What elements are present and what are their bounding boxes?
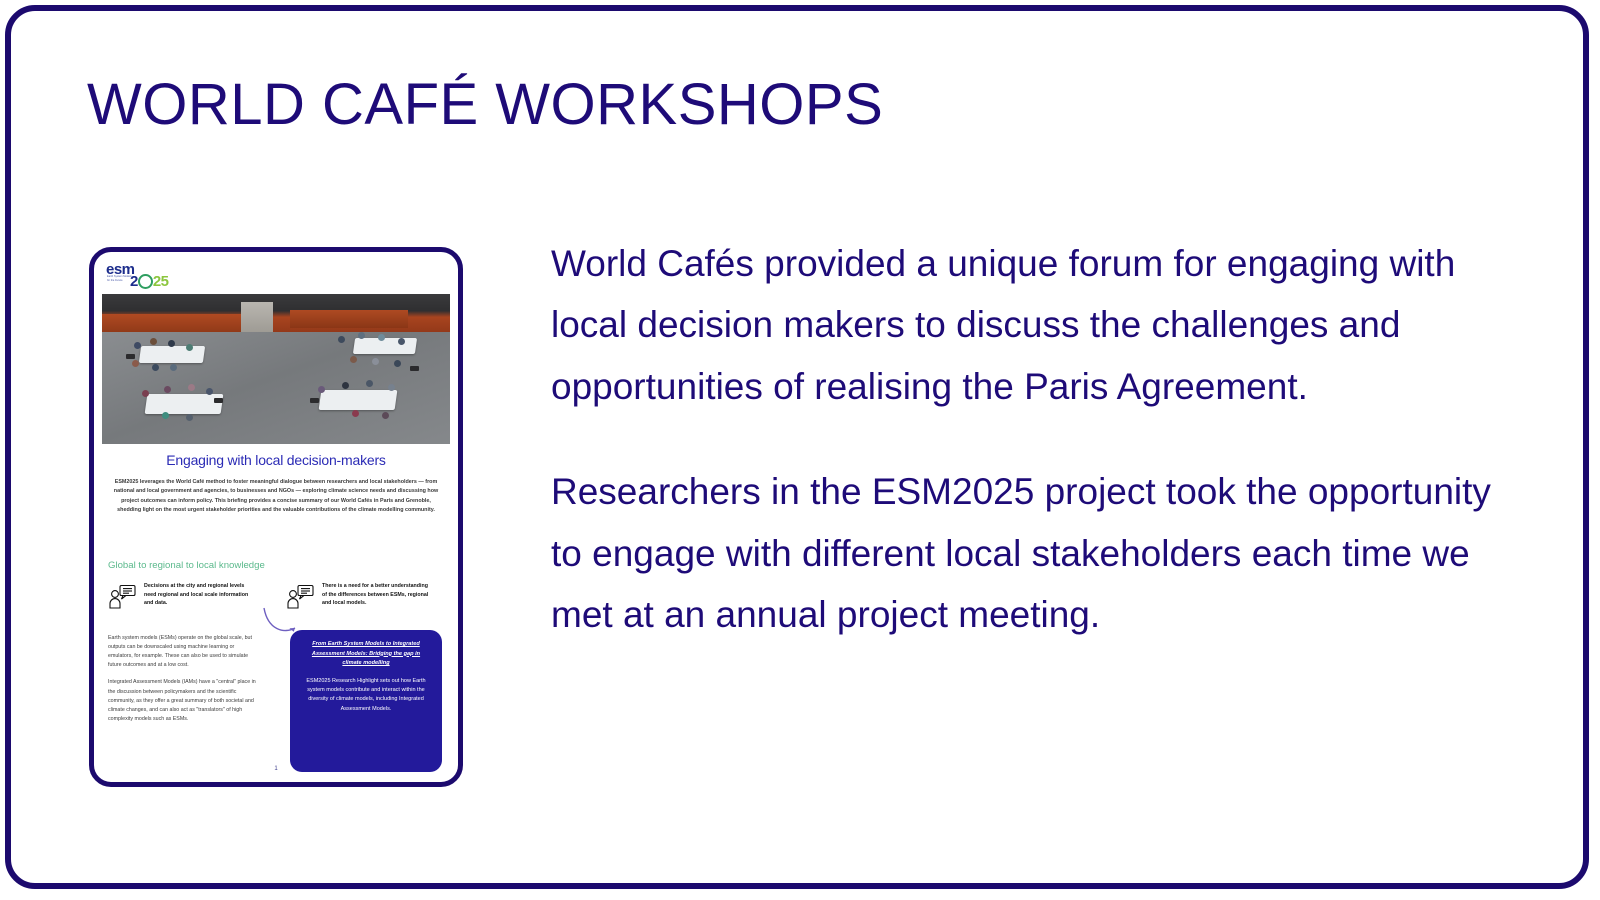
photo-person [142, 390, 149, 397]
document-page-number: 1 [94, 766, 458, 772]
photo-person [352, 410, 359, 417]
photo-person [152, 364, 159, 371]
document-page: esm Earth System Models for the Future 2… [94, 252, 458, 782]
photo-person [188, 384, 195, 391]
photo-person [134, 342, 141, 349]
logo-year-suffix: 25 [153, 274, 169, 289]
workshop-photo [102, 294, 450, 444]
document-paragraph: Earth system models (ESMs) operate on th… [108, 634, 260, 670]
photo-person [186, 344, 193, 351]
quote-block: Decisions at the city and regional level… [108, 582, 256, 608]
photo-bench-right [290, 310, 408, 328]
photo-person [350, 356, 357, 363]
person-speech-bubble-icon [108, 584, 138, 610]
photo-person [358, 332, 365, 339]
photo-person [206, 388, 213, 395]
photo-person [372, 358, 379, 365]
photo-table [319, 390, 398, 410]
photo-person [150, 338, 157, 345]
photo-chair [126, 354, 135, 359]
body-paragraph-1: World Cafés provided a unique forum for … [551, 233, 1511, 417]
quote-text: Decisions at the city and regional level… [144, 582, 256, 608]
logo-ring-icon [138, 274, 153, 289]
photo-table [353, 338, 417, 354]
document-heading: Engaging with local decision-makers [94, 452, 458, 468]
document-paragraph: Integrated Assessment Models (IAMs) have… [108, 678, 260, 724]
photo-person [164, 386, 171, 393]
quote-text: There is a need for a better understandi… [322, 582, 434, 608]
document-intro-text: ESM2025 leverages the World Café method … [110, 478, 442, 516]
research-highlight-link[interactable]: From Earth System Models to Integrated A… [302, 640, 430, 669]
research-highlight-box[interactable]: From Earth System Models to Integrated A… [290, 630, 442, 772]
photo-person [366, 380, 373, 387]
photo-person [394, 360, 401, 367]
photo-person [378, 334, 385, 341]
photo-table [139, 346, 205, 363]
photo-person [168, 340, 175, 347]
photo-person [382, 412, 389, 419]
quote-block: There is a need for a better understandi… [286, 582, 434, 608]
photo-chair [410, 366, 419, 371]
photo-chair [214, 398, 223, 403]
document-section-heading: Global to regional to local knowledge [108, 560, 265, 571]
photo-person [388, 384, 395, 391]
logo-year: 2 25 [130, 274, 169, 289]
photo-person [186, 414, 193, 421]
photo-person [170, 364, 177, 371]
page-title: WORLD CAFÉ WORKSHOPS [87, 73, 883, 137]
esm2025-logo: esm Earth System Models for the Future 2… [106, 262, 184, 292]
photo-table [145, 394, 224, 414]
photo-chair [310, 398, 319, 403]
body-paragraph-2: Researchers in the ESM2025 project took … [551, 461, 1511, 645]
photo-staircase [241, 302, 272, 336]
document-preview-thumbnail[interactable]: esm Earth System Models for the Future 2… [89, 247, 463, 787]
person-speech-bubble-icon [286, 584, 316, 610]
document-left-column: Earth system models (ESMs) operate on th… [108, 634, 260, 732]
logo-year-prefix: 2 [130, 274, 138, 289]
photo-person [132, 360, 139, 367]
photo-person [342, 382, 349, 389]
photo-person [338, 336, 345, 343]
slide-frame: WORLD CAFÉ WORKSHOPS esm Earth System Mo… [5, 5, 1589, 889]
photo-person [318, 386, 325, 393]
photo-person [398, 338, 405, 345]
photo-person [162, 412, 169, 419]
research-highlight-body: ESM2025 Research Highlight sets out how … [302, 677, 430, 715]
body-text-column: World Cafés provided a unique forum for … [551, 233, 1511, 645]
